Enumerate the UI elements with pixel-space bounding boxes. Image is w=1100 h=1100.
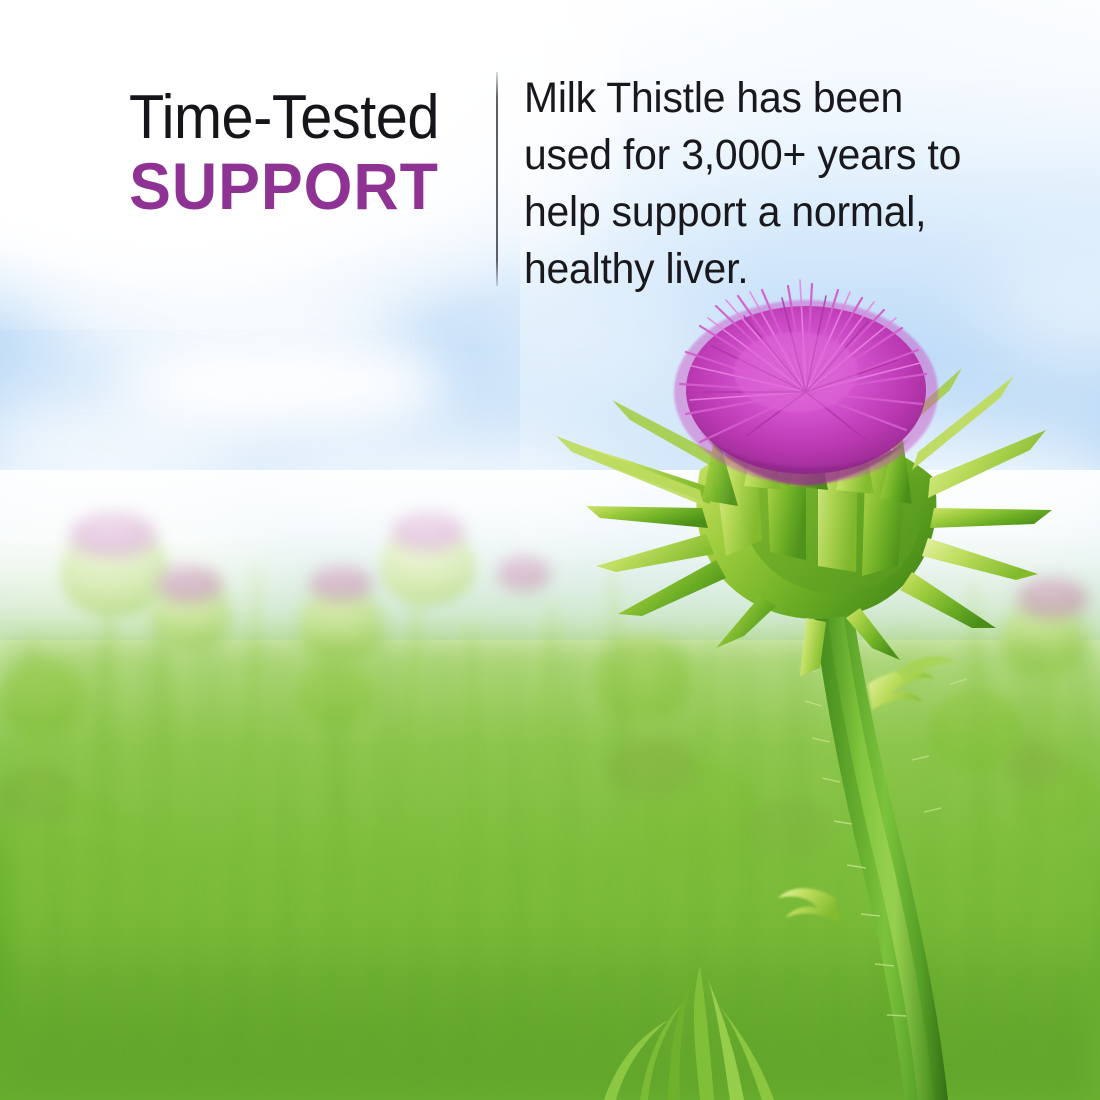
headline-line-2: SUPPORT — [107, 153, 460, 219]
body-line-1: Milk Thistle has been — [524, 70, 971, 127]
body-line-3: help support a normal, — [524, 184, 971, 241]
marketing-image-canvas: Time-Tested SUPPORT Milk Thistle has bee… — [0, 0, 1100, 1100]
body-copy-block: Milk Thistle has been used for 3,000+ ye… — [524, 70, 994, 298]
vertical-rule-divider — [496, 72, 498, 286]
body-line-4: healthy liver. — [524, 241, 971, 298]
headline-line-1: Time-Tested — [111, 88, 457, 149]
body-line-2: used for 3,000+ years to — [524, 127, 971, 184]
headline-block: Time-Tested SUPPORT — [98, 88, 470, 219]
